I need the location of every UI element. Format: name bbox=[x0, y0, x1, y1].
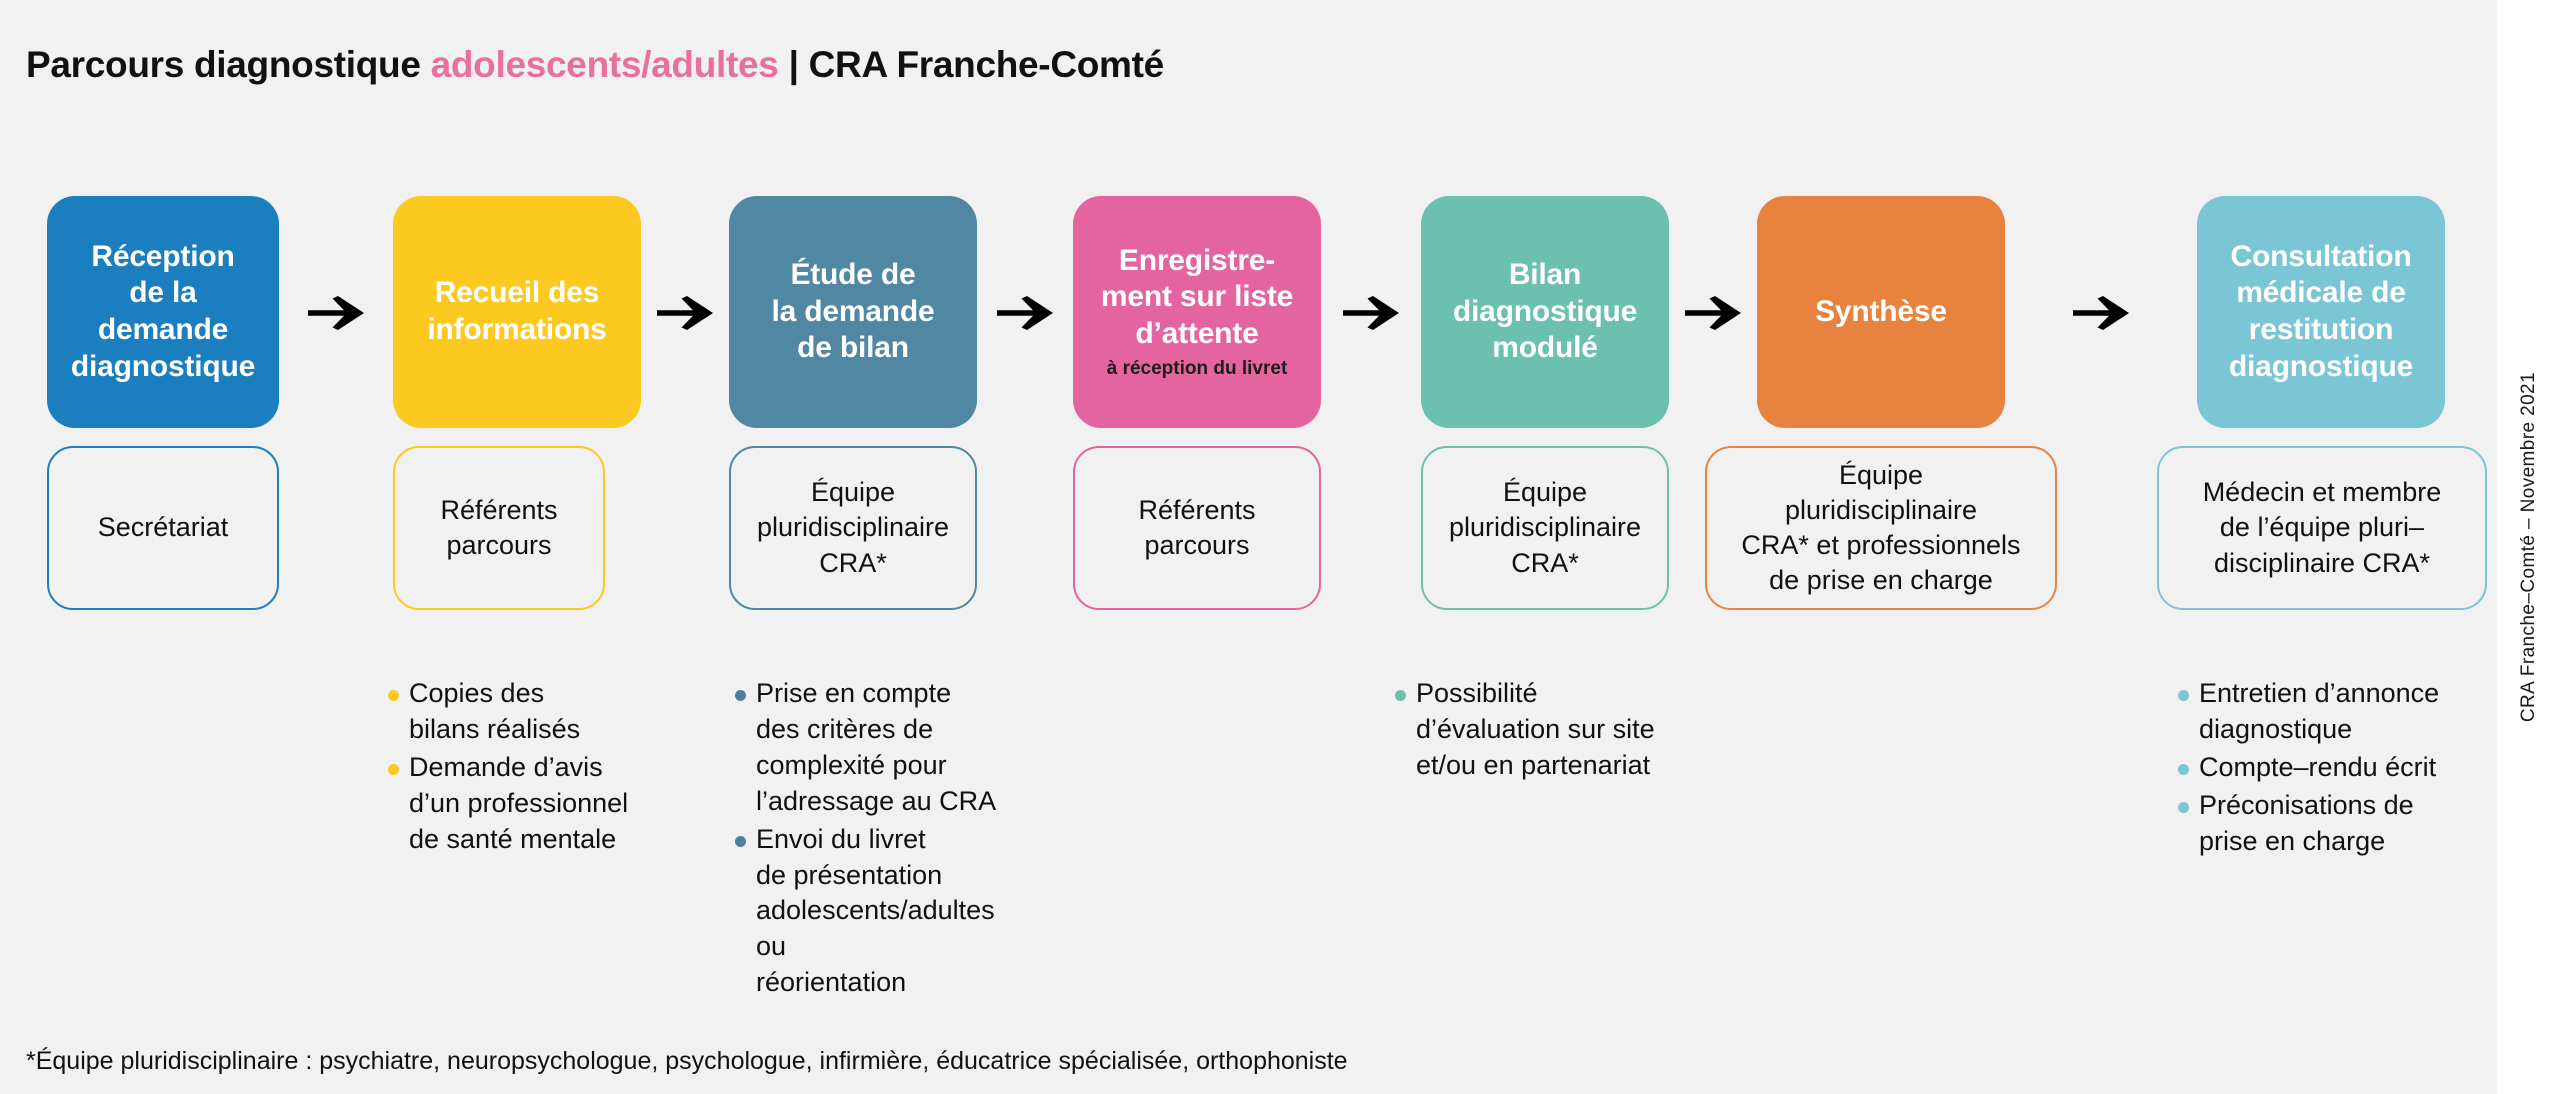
bullet-dot-icon bbox=[735, 836, 746, 847]
actor-label: Équipe pluridisciplinaire CRA* bbox=[1449, 475, 1641, 580]
process-step-consultation[interactable]: Consultation médicale de restitution dia… bbox=[2197, 196, 2445, 428]
bullet-item: Demande d’avis d’un professionnel de san… bbox=[388, 750, 718, 858]
process-step-reception[interactable]: Réception de la demande diagnostique bbox=[47, 196, 279, 428]
bullet-text: Possibilité d’évaluation sur site et/ou … bbox=[1416, 678, 1655, 780]
page-title: Parcours diagnostique adolescents/adulte… bbox=[26, 44, 1164, 86]
bullet-item: Prise en compte des critères de complexi… bbox=[735, 676, 1075, 820]
bullet-text: Envoi du livret de présentation adolesce… bbox=[756, 824, 995, 998]
arrow-right-icon bbox=[1685, 296, 1741, 330]
bullet-dot-icon bbox=[388, 690, 399, 701]
process-step-etude[interactable]: Étude de la demande de bilan bbox=[729, 196, 977, 428]
title-prefix: Parcours diagnostique bbox=[26, 44, 431, 85]
bullet-dot-icon bbox=[2178, 802, 2189, 813]
bullet-text: Préconisations de prise en charge bbox=[2199, 790, 2414, 856]
process-step-label: Consultation médicale de restitution dia… bbox=[2229, 239, 2413, 385]
bullet-list: Possibilité d’évaluation sur site et/ou … bbox=[1395, 676, 1755, 784]
bullet-group-bilan: Possibilité d’évaluation sur site et/ou … bbox=[1395, 676, 1755, 786]
side-credit-text: CRA Franche–Comté – Novembre 2021 bbox=[2518, 372, 2540, 722]
actor-box-medecin[interactable]: Médecin et membre de l’équipe pluri– dis… bbox=[2157, 446, 2487, 610]
actor-label: Équipe pluridisciplinaire CRA* et profes… bbox=[1741, 458, 2020, 598]
actor-label: Secrétariat bbox=[98, 510, 229, 545]
actor-label: Référents parcours bbox=[1138, 493, 1255, 563]
bullet-text: Entretien d’annonce diagnostique bbox=[2199, 678, 2439, 744]
process-step-label: Synthèse bbox=[1815, 294, 1947, 331]
bullet-dot-icon bbox=[2178, 690, 2189, 701]
bullet-group-recueil: Copies des bilans réalisésDemande d’avis… bbox=[388, 676, 718, 860]
bullet-list: Copies des bilans réalisésDemande d’avis… bbox=[388, 676, 718, 858]
bullet-item: Compte–rendu écrit bbox=[2178, 750, 2498, 786]
bullet-text: Copies des bilans réalisés bbox=[409, 678, 580, 744]
process-step-label: Enregistre- ment sur liste d’attente bbox=[1101, 243, 1293, 353]
actor-label: Médecin et membre de l’équipe pluri– dis… bbox=[2203, 475, 2442, 580]
bullet-dot-icon bbox=[735, 690, 746, 701]
actor-box-secretariat[interactable]: Secrétariat bbox=[47, 446, 279, 610]
bullet-dot-icon bbox=[388, 764, 399, 775]
title-suffix: | CRA Franche-Comté bbox=[779, 44, 1164, 85]
bullet-dot-icon bbox=[1395, 690, 1406, 701]
process-step-label: Bilan diagnostique modulé bbox=[1453, 257, 1637, 367]
bullet-dot-icon bbox=[2178, 764, 2189, 775]
actor-box-equipe-cra-pro[interactable]: Équipe pluridisciplinaire CRA* et profes… bbox=[1705, 446, 2057, 610]
footnote: *Équipe pluridisciplinaire : psychiatre,… bbox=[26, 1047, 1348, 1076]
actor-box-equipe-cra-1[interactable]: Équipe pluridisciplinaire CRA* bbox=[729, 446, 977, 610]
bullet-group-etude: Prise en compte des critères de complexi… bbox=[735, 676, 1075, 1003]
bullet-list: Entretien d’annonce diagnostiqueCompte–r… bbox=[2178, 676, 2498, 860]
arrow-right-icon bbox=[308, 296, 364, 330]
side-credit: CRA Franche–Comté – Novembre 2021 bbox=[2497, 0, 2560, 1094]
arrow-right-icon bbox=[657, 296, 713, 330]
bullet-list: Prise en compte des critères de complexi… bbox=[735, 676, 1075, 1001]
arrow-right-icon bbox=[997, 296, 1053, 330]
actor-box-equipe-cra-2[interactable]: Équipe pluridisciplinaire CRA* bbox=[1421, 446, 1669, 610]
poster-page: Parcours diagnostique adolescents/adulte… bbox=[0, 0, 2560, 1094]
bullet-group-consultation: Entretien d’annonce diagnostiqueCompte–r… bbox=[2178, 676, 2498, 862]
bullet-item: Préconisations de prise en charge bbox=[2178, 788, 2498, 860]
bullet-text: Prise en compte des critères de complexi… bbox=[756, 678, 996, 816]
process-step-label: Étude de la demande de bilan bbox=[771, 257, 934, 367]
arrow-right-icon bbox=[2073, 296, 2129, 330]
process-step-bilan[interactable]: Bilan diagnostique modulé bbox=[1421, 196, 1669, 428]
process-step-label: Réception de la demande diagnostique bbox=[71, 239, 255, 385]
bullet-item: Copies des bilans réalisés bbox=[388, 676, 718, 748]
process-step-sublabel: à réception du livret bbox=[1107, 358, 1288, 381]
process-step-synthese[interactable]: Synthèse bbox=[1757, 196, 2005, 428]
actor-box-referents-2[interactable]: Référents parcours bbox=[1073, 446, 1321, 610]
actor-label: Référents parcours bbox=[440, 493, 557, 563]
bullet-item: Envoi du livret de présentation adolesce… bbox=[735, 822, 1075, 1002]
title-accent: adolescents/adultes bbox=[431, 44, 779, 85]
actor-row: Secrétariat Référents parcours Équipe pl… bbox=[0, 446, 2497, 616]
actor-label: Équipe pluridisciplinaire CRA* bbox=[757, 475, 949, 580]
actor-box-referents-1[interactable]: Référents parcours bbox=[393, 446, 605, 610]
bullet-item: Possibilité d’évaluation sur site et/ou … bbox=[1395, 676, 1755, 784]
bullet-text: Compte–rendu écrit bbox=[2199, 752, 2436, 782]
bullet-text: Demande d’avis d’un professionnel de san… bbox=[409, 752, 628, 854]
bullet-item: Entretien d’annonce diagnostique bbox=[2178, 676, 2498, 748]
process-step-recueil[interactable]: Recueil des informations bbox=[393, 196, 641, 428]
arrow-right-icon bbox=[1343, 296, 1399, 330]
process-flow-row: Réception de la demande diagnostique Rec… bbox=[0, 196, 2497, 428]
process-step-label: Recueil des informations bbox=[427, 275, 606, 348]
process-step-enregistrement[interactable]: Enregistre- ment sur liste d’attente à r… bbox=[1073, 196, 1321, 428]
